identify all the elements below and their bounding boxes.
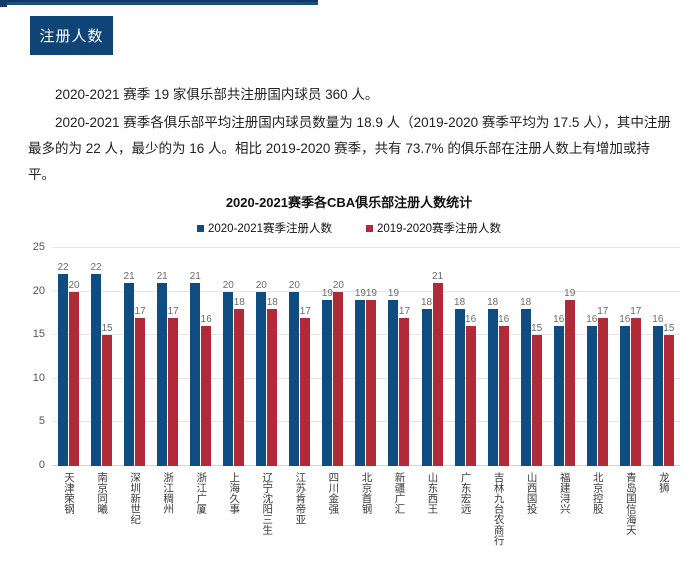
bar-series-1[interactable]: 21 (157, 283, 167, 466)
bar-group: 2220天津荣钢 (52, 248, 85, 466)
bar-value-label: 16 (201, 314, 212, 326)
y-axis-tick-label: 20 (33, 285, 45, 297)
bar-value-label: 20 (333, 280, 344, 292)
bar-value-label: 16 (553, 314, 564, 326)
x-axis-tick-label: 四川金强 (327, 472, 338, 514)
bar-group: 2116浙江广厦 (184, 248, 217, 466)
bar-group: 1919北京首钢 (349, 248, 382, 466)
bar-series-1[interactable]: 19 (388, 300, 398, 466)
bar-value-label: 18 (421, 297, 432, 309)
x-axis-tick-label: 北京控股 (592, 472, 603, 514)
bar-value-label: 20 (223, 280, 234, 292)
bar-value-label: 19 (355, 288, 366, 300)
bar-value-label: 17 (168, 306, 179, 318)
plot-canvas: 0510152025 2220天津荣钢2215南京同曦2117深圳新世纪2117… (52, 248, 680, 466)
bar-series-1[interactable]: 18 (488, 309, 498, 466)
bar-group: 2018辽宁沈阳三生 (250, 248, 283, 466)
bar-value-label: 21 (190, 271, 201, 283)
bar-value-label: 19 (366, 288, 377, 300)
x-axis-tick-label: 山西国投 (526, 472, 537, 514)
bar-value-label: 21 (157, 271, 168, 283)
bar-value-label: 17 (399, 306, 410, 318)
bar-value-label: 21 (432, 271, 443, 283)
bar-series-1[interactable]: 19 (355, 300, 365, 466)
bar-series-1[interactable]: 19 (322, 300, 332, 466)
bar-series-2[interactable]: 16 (466, 326, 476, 466)
top-decorative-strip (0, 0, 318, 5)
bar-value-label: 19 (388, 288, 399, 300)
paragraph-2: 2020-2021 赛季各俱乐部平均注册国内球员数量为 18.9 人（2019-… (28, 110, 673, 188)
bar-group: 1821山东西王 (416, 248, 449, 466)
bar-series-2[interactable]: 18 (234, 309, 244, 466)
bar-value-label: 19 (322, 288, 333, 300)
y-axis-tick-label: 0 (39, 459, 45, 471)
bar-series-1[interactable]: 21 (124, 283, 134, 466)
bar-value-label: 17 (597, 306, 608, 318)
bar-series-2[interactable]: 17 (168, 318, 178, 466)
bar-group: 2017江苏肯帝亚 (283, 248, 316, 466)
bar-value-label: 16 (465, 314, 476, 326)
bar-series-2[interactable]: 15 (532, 335, 542, 466)
bar-value-label: 17 (630, 306, 641, 318)
bar-series-1[interactable]: 22 (58, 274, 68, 466)
x-axis-tick-label: 青岛国信海天 (625, 472, 636, 535)
bar-group: 1615龙狮 (647, 248, 680, 466)
bar-series-2[interactable]: 15 (102, 335, 112, 466)
bar-value-label: 22 (91, 262, 102, 274)
bar-series-2[interactable]: 17 (300, 318, 310, 466)
bar-group: 1816吉林九台农商行 (482, 248, 515, 466)
paragraph-1: 2020-2021 赛季 19 家俱乐部共注册国内球员 360 人。 (28, 82, 673, 108)
x-axis-tick-label: 福建浔兴 (559, 472, 570, 514)
bar-group: 1917新疆广汇 (382, 248, 415, 466)
bar-series-1[interactable]: 20 (289, 292, 299, 466)
plot-area: 0510152025 2220天津荣钢2215南京同曦2117深圳新世纪2117… (0, 190, 698, 566)
bar-value-label: 18 (267, 297, 278, 309)
x-axis-tick-label: 深圳新世纪 (129, 472, 140, 525)
bar-value-label: 17 (300, 306, 311, 318)
bar-series-2[interactable]: 21 (433, 283, 443, 466)
y-axis-tick-label: 10 (33, 372, 45, 384)
bar-value-label: 18 (520, 297, 531, 309)
bar-value-label: 20 (256, 280, 267, 292)
bar-value-label: 15 (102, 323, 113, 335)
x-axis-tick-label: 天津荣钢 (63, 472, 74, 514)
bar-value-label: 16 (498, 314, 509, 326)
x-axis-tick-label: 广东宏远 (460, 472, 471, 514)
top-strip-marker (0, 0, 7, 7)
bar-group: 2117浙江稠州 (151, 248, 184, 466)
bar-series-1[interactable]: 16 (587, 326, 597, 466)
x-axis-tick-label: 辽宁沈阳三生 (261, 472, 272, 535)
bar-value-label: 18 (487, 297, 498, 309)
x-axis-tick-label: 新疆广汇 (393, 472, 404, 514)
x-axis-tick-label: 龙狮 (658, 472, 669, 493)
bar-series-1[interactable]: 16 (554, 326, 564, 466)
bar-series-2[interactable]: 20 (333, 292, 343, 466)
x-axis-tick-label: 山东西王 (427, 472, 438, 514)
x-axis-tick-label: 北京首钢 (360, 472, 371, 514)
x-axis-tick-label: 江苏肯帝亚 (294, 472, 305, 525)
bar-series-2[interactable]: 17 (631, 318, 641, 466)
bar-group: 1619福建浔兴 (548, 248, 581, 466)
bar-series-1[interactable]: 16 (620, 326, 630, 466)
bar-series-1[interactable]: 18 (422, 309, 432, 466)
bar-group: 1617北京控股 (581, 248, 614, 466)
bar-value-label: 18 (234, 297, 245, 309)
bar-group: 2215南京同曦 (85, 248, 118, 466)
article-body: 2020-2021 赛季 19 家俱乐部共注册国内球员 360 人。 2020-… (28, 82, 673, 190)
bar-groups: 2220天津荣钢2215南京同曦2117深圳新世纪2117浙江稠州2116浙江广… (52, 248, 680, 466)
section-badge: 注册人数 (30, 16, 113, 55)
bar-series-2[interactable]: 19 (565, 300, 575, 466)
bar-value-label: 18 (454, 297, 465, 309)
bar-series-2[interactable]: 18 (267, 309, 277, 466)
bar-group: 1816广东宏远 (449, 248, 482, 466)
bar-value-label: 15 (663, 323, 674, 335)
bar-value-label: 15 (531, 323, 542, 335)
bar-series-1[interactable]: 20 (256, 292, 266, 466)
bar-value-label: 21 (124, 271, 135, 283)
x-axis-tick-label: 上海久事 (228, 472, 239, 514)
bar-value-label: 17 (135, 306, 146, 318)
bar-group: 2117深圳新世纪 (118, 248, 151, 466)
bar-series-2[interactable]: 19 (366, 300, 376, 466)
x-axis-tick-label: 南京同曦 (96, 472, 107, 514)
y-axis-tick-label: 25 (33, 241, 45, 253)
bar-series-1[interactable]: 21 (190, 283, 200, 466)
y-axis-tick-label: 15 (33, 328, 45, 340)
bar-series-1[interactable]: 16 (653, 326, 663, 466)
bar-series-2[interactable]: 17 (135, 318, 145, 466)
bar-value-label: 22 (57, 262, 68, 274)
bar-series-2[interactable]: 16 (201, 326, 211, 466)
bar-series-2[interactable]: 17 (598, 318, 608, 466)
chart-container: 2020-2021赛季各CBA俱乐部注册人数统计 2020-2021赛季注册人数… (0, 190, 698, 566)
bar-value-label: 16 (619, 314, 630, 326)
bar-value-label: 16 (652, 314, 663, 326)
x-axis-tick-label: 浙江稠州 (162, 472, 173, 514)
bar-series-1[interactable]: 18 (521, 309, 531, 466)
bar-series-2[interactable]: 16 (499, 326, 509, 466)
bar-value-label: 16 (586, 314, 597, 326)
bar-series-2[interactable]: 20 (69, 292, 79, 466)
bar-series-1[interactable]: 22 (91, 274, 101, 466)
bar-group: 1617青岛国信海天 (614, 248, 647, 466)
bar-group: 2018上海久事 (217, 248, 250, 466)
y-axis-tick-label: 5 (39, 415, 45, 427)
bar-group: 1815山西国投 (515, 248, 548, 466)
bar-series-1[interactable]: 18 (455, 309, 465, 466)
bar-value-label: 20 (289, 280, 300, 292)
bar-value-label: 19 (564, 288, 575, 300)
bar-value-label: 20 (68, 280, 79, 292)
x-axis-tick-label: 浙江广厦 (195, 472, 206, 514)
x-axis-tick-label: 吉林九台农商行 (493, 472, 504, 546)
section-badge-label: 注册人数 (39, 25, 103, 46)
bar-group: 1920四川金强 (316, 248, 349, 466)
bar-series-1[interactable]: 20 (223, 292, 233, 466)
bar-series-2[interactable]: 17 (399, 318, 409, 466)
bar-series-2[interactable]: 15 (664, 335, 674, 466)
